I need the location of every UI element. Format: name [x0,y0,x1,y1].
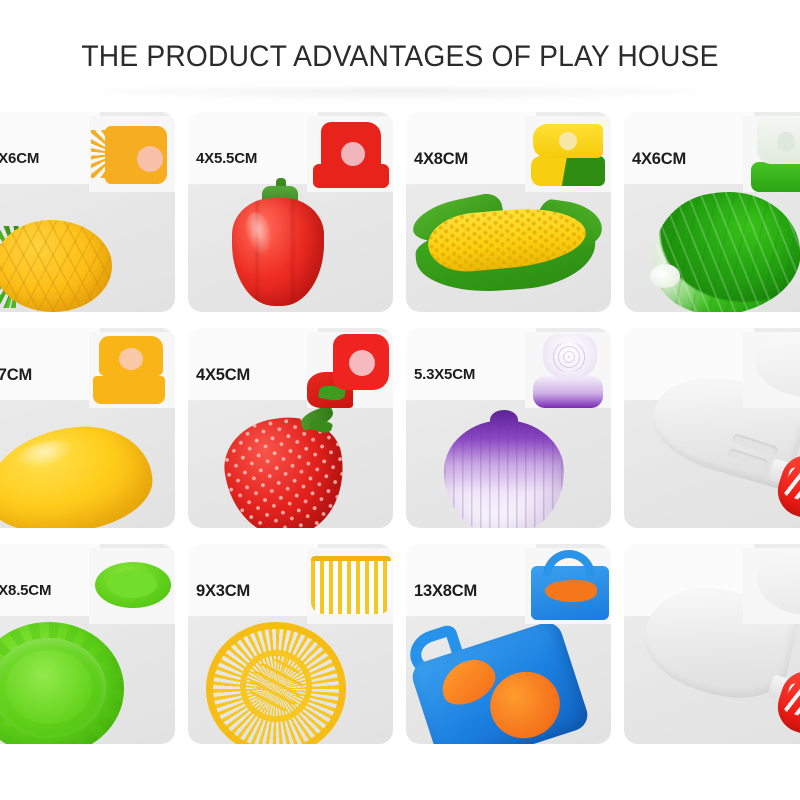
product-card-cutting-board[interactable]: 13X8CM [406,544,611,744]
inset-thumbnail-corn-cross-section [525,116,611,192]
plate-well-shape [107,570,157,598]
product-card-basket[interactable]: 9X3CM [188,544,393,744]
page-title: THE PRODUCT ADVANTAGES OF PLAY HOUSE [24,40,776,74]
inset-thumbnail-peeler-knife [743,332,800,408]
product-card-plate[interactable]: 8.5X8.5CM [0,544,175,744]
page-header: THE PRODUCT ADVANTAGES OF PLAY HOUSE [0,0,800,104]
product-card-peeler-knife[interactable] [624,328,800,528]
cutting-board-handle-shape [543,550,595,576]
size-label: 4X8CM [414,150,468,169]
product-card-onion[interactable]: 5.3X5CM [406,328,611,528]
basket-side-shape [311,556,391,614]
onion-rings-texture [551,342,587,372]
product-card-pineapple[interactable]: 3.5X6CM [0,112,175,312]
pineapple-core-icon [137,146,163,172]
size-label: 4X7CM [0,366,32,385]
mango-core-icon [119,348,143,370]
inset-thumbnail-cabbage-cross-section [743,116,800,192]
size-label: 9X3CM [196,582,250,601]
cutting-board-oval-shape [545,580,597,602]
product-card-bell-pepper[interactable]: 4X5.5CM [188,112,393,312]
pineapple-texture-shape [0,220,112,312]
corn-half-shape [531,156,605,186]
plate-well-shape [6,650,92,724]
size-label: 5.3X5CM [414,366,475,383]
pepper-core-icon [341,142,365,166]
basket-inner-ring-shape [240,650,312,722]
inset-thumbnail-plate [89,548,175,624]
product-grid: 3.5X6CM 4X5.5CM [0,112,800,744]
spatula-blade-shape [752,548,800,621]
inset-thumbnail-basket [307,548,393,624]
inset-thumbnail-cutting-board [525,548,611,624]
product-card-mango[interactable]: 4X7CM [0,328,175,528]
mango-body-shape [0,420,157,528]
cabbage-half-shape [751,162,800,192]
product-card-corn[interactable]: 4X8CM [406,112,611,312]
inset-thumbnail-spatula-knife [743,548,800,624]
size-label: 4X5CM [196,366,250,385]
size-label: 8.5X8.5CM [0,582,51,599]
cabbage-stem-shape [650,264,680,288]
size-label: 4X6CM [632,150,686,169]
corn-core-icon [559,132,577,150]
inset-thumbnail-pepper-cross-section [307,116,393,192]
size-label: 13X8CM [414,582,477,601]
header-shadow [60,88,740,102]
onion-half-shape [533,376,603,408]
onion-ribs-texture [444,420,564,528]
pepper-lobes-shape [232,198,324,306]
product-card-strawberry[interactable]: 4X5CM [188,328,393,528]
cabbage-core-icon [777,132,795,152]
inset-thumbnail-onion-cross-section [525,332,611,408]
inset-thumbnail-mango-cross-section [89,332,175,408]
knife-blade-shape [749,332,800,406]
inset-thumbnail-pineapple-cross-section [89,116,175,192]
product-card-cabbage[interactable]: 4X6CM [624,112,800,312]
strawberry-core-icon [349,350,375,376]
size-label: 4X5.5CM [196,150,257,167]
size-label: 3.5X6CM [0,150,39,167]
product-card-spatula-knife[interactable] [624,544,800,744]
cabbage-veins-texture [644,182,800,312]
inset-thumbnail-strawberry-cross-section [307,332,393,408]
mango-half-shape [93,376,165,404]
